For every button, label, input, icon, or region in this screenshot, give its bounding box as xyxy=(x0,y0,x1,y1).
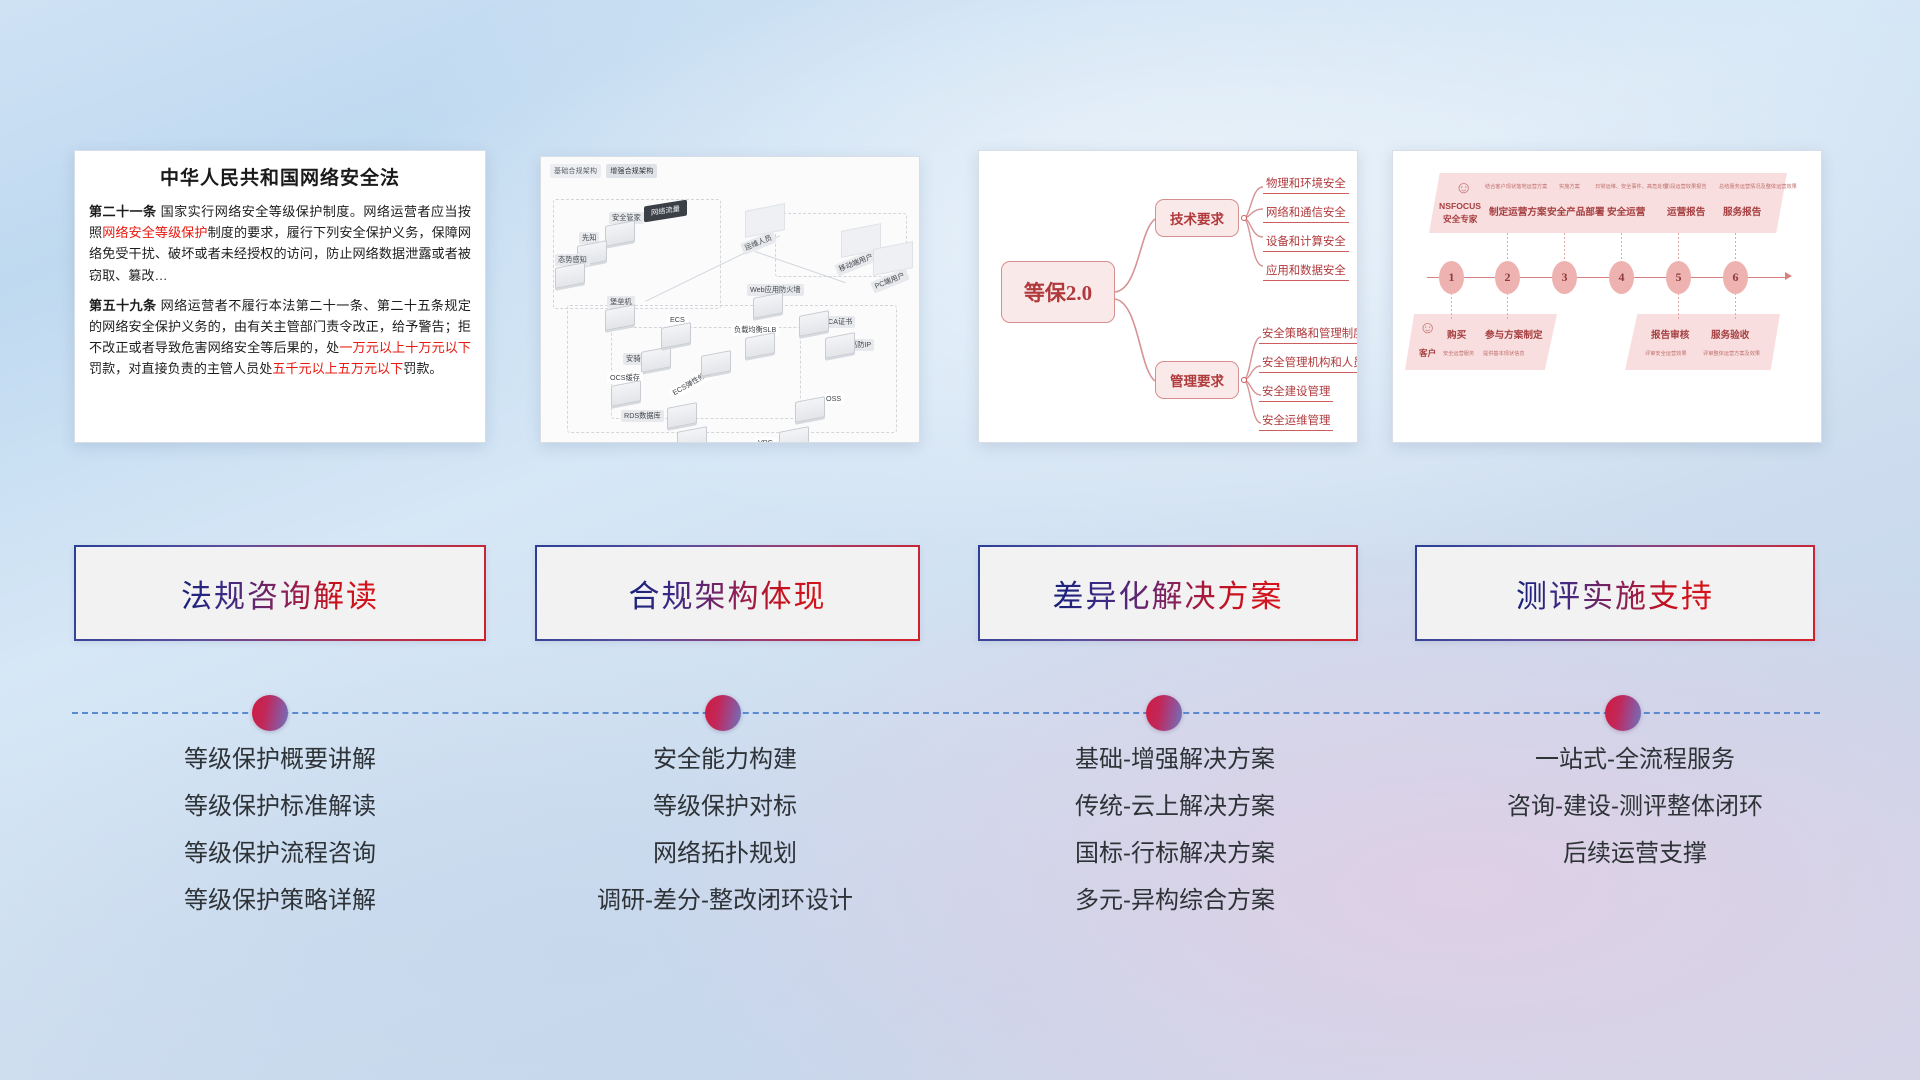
roadmap-step-2[interactable]: 2 xyxy=(1495,261,1520,294)
bullet-list-2: 安全能力构建 等级保护对标 网络拓扑规划 调研-差分-整改闭环设计 xyxy=(505,748,945,936)
list-item: 调研-差分-整改闭环设计 xyxy=(505,889,945,913)
list-item: 后续运营支撑 xyxy=(1400,842,1870,866)
roadmap-vendor-desc-5: 总结服务运营情况及整体运营效果 xyxy=(1719,183,1797,190)
arch-node-pc-user: PC端用户 xyxy=(873,245,913,272)
expert-avatar-icon: ☺ xyxy=(1455,179,1472,196)
arch-node-slb: 负载均衡SLB xyxy=(745,335,775,356)
list-item: 等级保护对标 xyxy=(505,795,945,819)
roadmap-customer-title-1: 购买 xyxy=(1447,327,1466,341)
timeline-dot-1[interactable] xyxy=(252,695,288,731)
roadmap-vendor-desc-4: 阶段运营效果报告 xyxy=(1665,183,1707,190)
mindmap-collapse-icon-technical[interactable] xyxy=(1241,215,1247,221)
roadmap-step-6[interactable]: 6 xyxy=(1723,261,1748,294)
roadmap-vendor-band xyxy=(1429,173,1787,233)
arch-node-ocs-cache: OCS缓存 xyxy=(611,383,641,404)
roadmap-customer-desc-1: 安全运营服务 xyxy=(1443,350,1474,357)
card-cloud-architecture[interactable]: 基础合规架构 增强合规架构 网络流量 安全管家 xyxy=(540,156,920,443)
roadmap-axis-arrow-icon xyxy=(1785,272,1792,280)
law-article-59-highlight-1: 一万元以上十万元以下 xyxy=(339,340,471,355)
list-item: 网络拓扑规划 xyxy=(505,842,945,866)
mindmap-root-node[interactable]: 等保2.0 xyxy=(1001,261,1115,323)
law-article-59-number: 第五十九条 xyxy=(89,298,157,313)
mindmap-branch-management[interactable]: 管理要求 xyxy=(1155,361,1239,399)
mindmap-leaf-physical-env: 物理和环境安全 xyxy=(1263,175,1349,194)
mindmap-leaf-device-compute: 设备和计算安全 xyxy=(1263,233,1349,252)
arch-node-ca-certificate: CA证书 xyxy=(799,313,829,334)
mindmap-leaf-app-data: 应用和数据安全 xyxy=(1263,262,1349,281)
arch-node-security-butler: 安全管家 xyxy=(605,223,635,244)
roadmap-step-4[interactable]: 4 xyxy=(1609,261,1634,294)
arch-node-ecs: ECS xyxy=(661,325,691,346)
arch-node-situational-awareness: 态势感知 xyxy=(555,265,585,286)
roadmap-customer-band-right xyxy=(1625,314,1780,370)
roadmap-step-1[interactable]: 1 xyxy=(1439,261,1464,294)
customer-avatar-icon: ☺ xyxy=(1419,319,1436,336)
arch-node-anti-ddos-ip: 高防IP xyxy=(825,335,855,356)
arch-node-ecs-scaling-group: ECS弹性伸缩组 xyxy=(701,353,731,374)
mindmap-leaf-org-personnel: 安全管理机构和人员 xyxy=(1259,354,1358,373)
arch-node-rds-database: RDS数据库 xyxy=(667,405,697,426)
roadmap-vendor-desc-1: 结合客户现状落地运营方案 xyxy=(1485,183,1547,190)
roadmap-tick-c4 xyxy=(1735,293,1736,319)
roadmap-tick-3 xyxy=(1564,233,1565,263)
roadmap-vendor-title-3: 安全运营 xyxy=(1607,204,1645,218)
mindmap-leaf-network-comm: 网络和通信安全 xyxy=(1263,204,1349,223)
top-card-row: 中华人民共和国网络安全法 第二十一条 国家实行网络安全等级保护制度。网络运营者应… xyxy=(0,148,1920,448)
mindmap-leaf-policy-system: 安全策略和管理制度 xyxy=(1259,325,1358,344)
timeline-dot-3[interactable] xyxy=(1146,695,1182,731)
roadmap-tick-5 xyxy=(1678,233,1679,263)
tab-enhanced-architecture[interactable]: 增强合规架构 xyxy=(606,164,657,178)
roadmap-tick-c3 xyxy=(1678,293,1679,319)
section-title-label-3: 差异化解决方案 xyxy=(1053,571,1284,616)
law-article-59: 第五十九条 网络运营者不履行本法第二十一条、第二十五条规定的网络安全保护义务的，… xyxy=(89,295,471,380)
arch-node-database-audit: 数据库审计 xyxy=(677,429,707,443)
bullet-list-1: 等级保护概要讲解 等级保护标准解读 等级保护流程咨询 等级保护策略详解 xyxy=(60,748,500,936)
arch-node-oss: OSS xyxy=(795,399,825,420)
list-item: 传统-云上解决方案 xyxy=(955,795,1395,819)
slide-canvas: 中华人民共和国网络安全法 第二十一条 国家实行网络安全等级保护制度。网络运营者应… xyxy=(0,0,1920,1080)
roadmap-tick-2 xyxy=(1507,233,1508,263)
timeline-dashed-line xyxy=(72,712,1820,714)
section-title-label-1: 法规咨询解读 xyxy=(181,571,379,616)
architecture-canvas: 网络流量 安全管家 先知 态势感知 堡垒机 xyxy=(549,177,911,434)
roadmap-customer-desc-3: 评审安全运营效果 xyxy=(1645,350,1687,357)
roadmap-vendor-title-1: 制定运营方案 xyxy=(1489,204,1547,218)
section-title-label-2: 合规架构体现 xyxy=(629,571,827,616)
section-title-box-3[interactable]: 差异化解决方案 xyxy=(978,545,1358,641)
roadmap-tick-6 xyxy=(1735,233,1736,263)
bullet-list-4: 一站式-全流程服务 咨询-建设-测评整体闭环 后续运营支撑 xyxy=(1400,748,1870,889)
mindmap-branch-technical[interactable]: 技术要求 xyxy=(1155,199,1239,237)
arch-node-vpc: VPC xyxy=(779,429,809,443)
list-item: 国标-行标解决方案 xyxy=(955,842,1395,866)
list-item: 安全能力构建 xyxy=(505,748,945,772)
card-service-roadmap[interactable]: ☺ NSFOCUS 安全专家 结合客户现状落地运营方案 制定运营方案 实施方案 … xyxy=(1392,150,1822,443)
roadmap-vendor-desc-2: 实施方案 xyxy=(1559,183,1580,190)
list-item: 基础-增强解决方案 xyxy=(955,748,1395,772)
roadmap-vendor-name: NSFOCUS xyxy=(1439,201,1481,211)
list-item: 等级保护概要讲解 xyxy=(60,748,500,772)
roadmap-vendor-title-2: 安全产品部署 xyxy=(1547,204,1605,218)
law-title: 中华人民共和国网络安全法 xyxy=(89,163,471,190)
timeline xyxy=(0,695,1920,731)
arch-node-anqishi: 安骑士 xyxy=(641,349,671,370)
list-item: 等级保护标准解读 xyxy=(60,795,500,819)
roadmap-customer-title-2: 参与方案制定 xyxy=(1485,327,1543,341)
roadmap-step-5[interactable]: 5 xyxy=(1666,261,1691,294)
arch-node-operations-staff: 运维人员 xyxy=(745,207,785,234)
mindmap-leaf-operations: 安全运维管理 xyxy=(1259,412,1333,431)
architecture-tabs[interactable]: 基础合规架构 增强合规架构 xyxy=(550,164,657,178)
bullet-list-3: 基础-增强解决方案 传统-云上解决方案 国标-行标解决方案 多元-异构综合方案 xyxy=(955,748,1395,936)
roadmap-customer-title-4: 服务验收 xyxy=(1711,327,1749,341)
law-article-59-highlight-2: 五千元以上五万元以下 xyxy=(272,361,403,376)
law-article-21-highlight: 网络安全等级保护 xyxy=(102,225,207,240)
list-item: 等级保护策略详解 xyxy=(60,889,500,913)
roadmap-customer-title-3: 报告审核 xyxy=(1651,327,1689,341)
roadmap-canvas: ☺ NSFOCUS 安全专家 结合客户现状落地运营方案 制定运营方案 实施方案 … xyxy=(1393,151,1821,442)
mindmap-collapse-icon-management[interactable] xyxy=(1241,377,1247,383)
mindmap-leaf-construction: 安全建设管理 xyxy=(1259,383,1333,402)
roadmap-vendor-role: 安全专家 xyxy=(1443,213,1477,225)
roadmap-vendor-title-5: 服务报告 xyxy=(1723,204,1761,218)
card-mindmap-dengbao[interactable]: 等保2.0 技术要求 管理要求 物理和环境安全 网络和通信安全 设备和计算安全 … xyxy=(978,150,1358,443)
section-title-label-4: 测评实施支持 xyxy=(1516,571,1714,616)
law-article-21: 第二十一条 国家实行网络安全等级保护制度。网络运营者应当按照网络安全等级保护制度… xyxy=(89,201,471,286)
roadmap-customer-desc-4: 评审整体运营方案及效果 xyxy=(1703,350,1760,357)
card-cybersecurity-law[interactable]: 中华人民共和国网络安全法 第二十一条 国家实行网络安全等级保护制度。网络运营者应… xyxy=(74,150,486,443)
arch-node-waf: Web应用防火墙 xyxy=(753,295,783,316)
section-title-box-2[interactable]: 合规架构体现 xyxy=(535,545,920,641)
roadmap-tick-c2 xyxy=(1507,293,1508,319)
mindmap-canvas: 等保2.0 技术要求 管理要求 物理和环境安全 网络和通信安全 设备和计算安全 … xyxy=(979,151,1357,442)
roadmap-customer-role: 客户 xyxy=(1419,347,1436,359)
list-item: 等级保护流程咨询 xyxy=(60,842,500,866)
list-item: 咨询-建设-测评整体闭环 xyxy=(1400,795,1870,819)
tab-basic-architecture[interactable]: 基础合规架构 xyxy=(550,164,601,178)
roadmap-tick-c1 xyxy=(1451,293,1452,319)
roadmap-customer-desc-2: 提供基本现状信息 xyxy=(1483,350,1525,357)
roadmap-vendor-desc-3: 日常运维、安全事件、高危处理 xyxy=(1595,183,1668,190)
law-article-59-text-b: 罚款，对直接负责的主管人员处 xyxy=(89,361,272,376)
roadmap-step-3[interactable]: 3 xyxy=(1552,261,1577,294)
roadmap-tick-4 xyxy=(1621,233,1622,263)
arch-node-bastion-host: 堡垒机 xyxy=(605,307,635,328)
timeline-dot-4[interactable] xyxy=(1605,695,1641,731)
section-title-box-1[interactable]: 法规咨询解读 xyxy=(74,545,486,641)
list-item: 一站式-全流程服务 xyxy=(1400,748,1870,772)
law-article-59-text-c: 罚款。 xyxy=(403,361,442,376)
roadmap-vendor-title-4: 运营报告 xyxy=(1667,204,1705,218)
section-title-box-4[interactable]: 测评实施支持 xyxy=(1415,545,1815,641)
timeline-dot-2[interactable] xyxy=(705,695,741,731)
law-article-21-number: 第二十一条 xyxy=(89,204,157,219)
list-item: 多元-异构综合方案 xyxy=(955,889,1395,913)
